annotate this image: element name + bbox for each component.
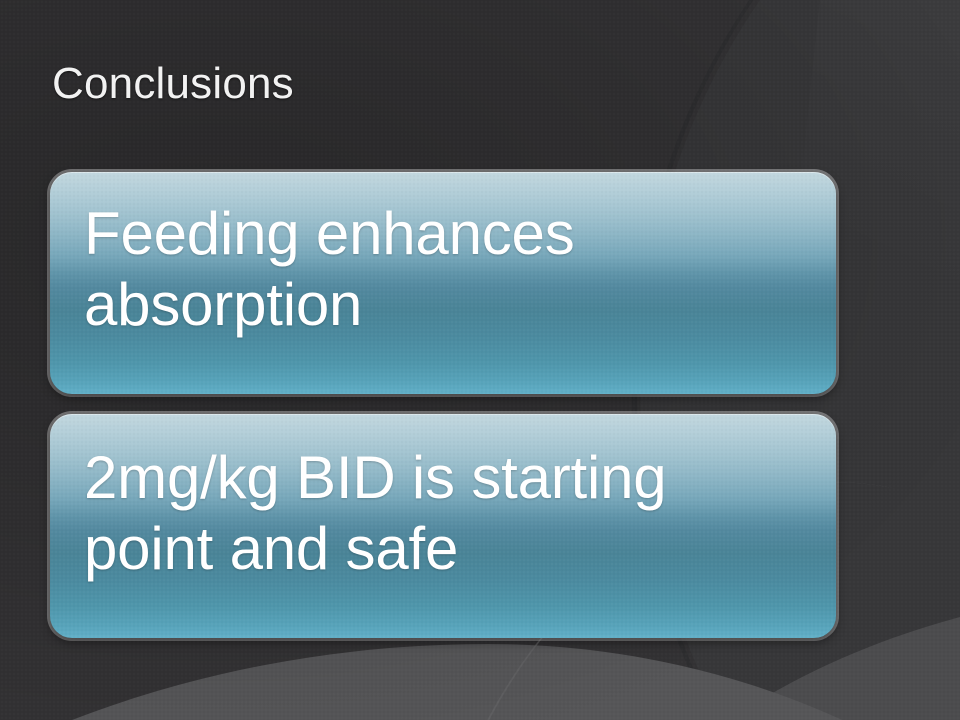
slide-title: Conclusions (52, 58, 294, 110)
bullet-box-2-text: 2mg/kg BID is starting point and safe (50, 414, 836, 584)
background-bottom-arc (0, 644, 960, 720)
bullet-box-1: Feeding enhances absorption (50, 172, 836, 394)
bullet-box-2: 2mg/kg BID is starting point and safe (50, 414, 836, 638)
presentation-slide: Conclusions Feeding enhances absorption … (0, 0, 960, 720)
bullet-box-1-text: Feeding enhances absorption (50, 172, 836, 340)
